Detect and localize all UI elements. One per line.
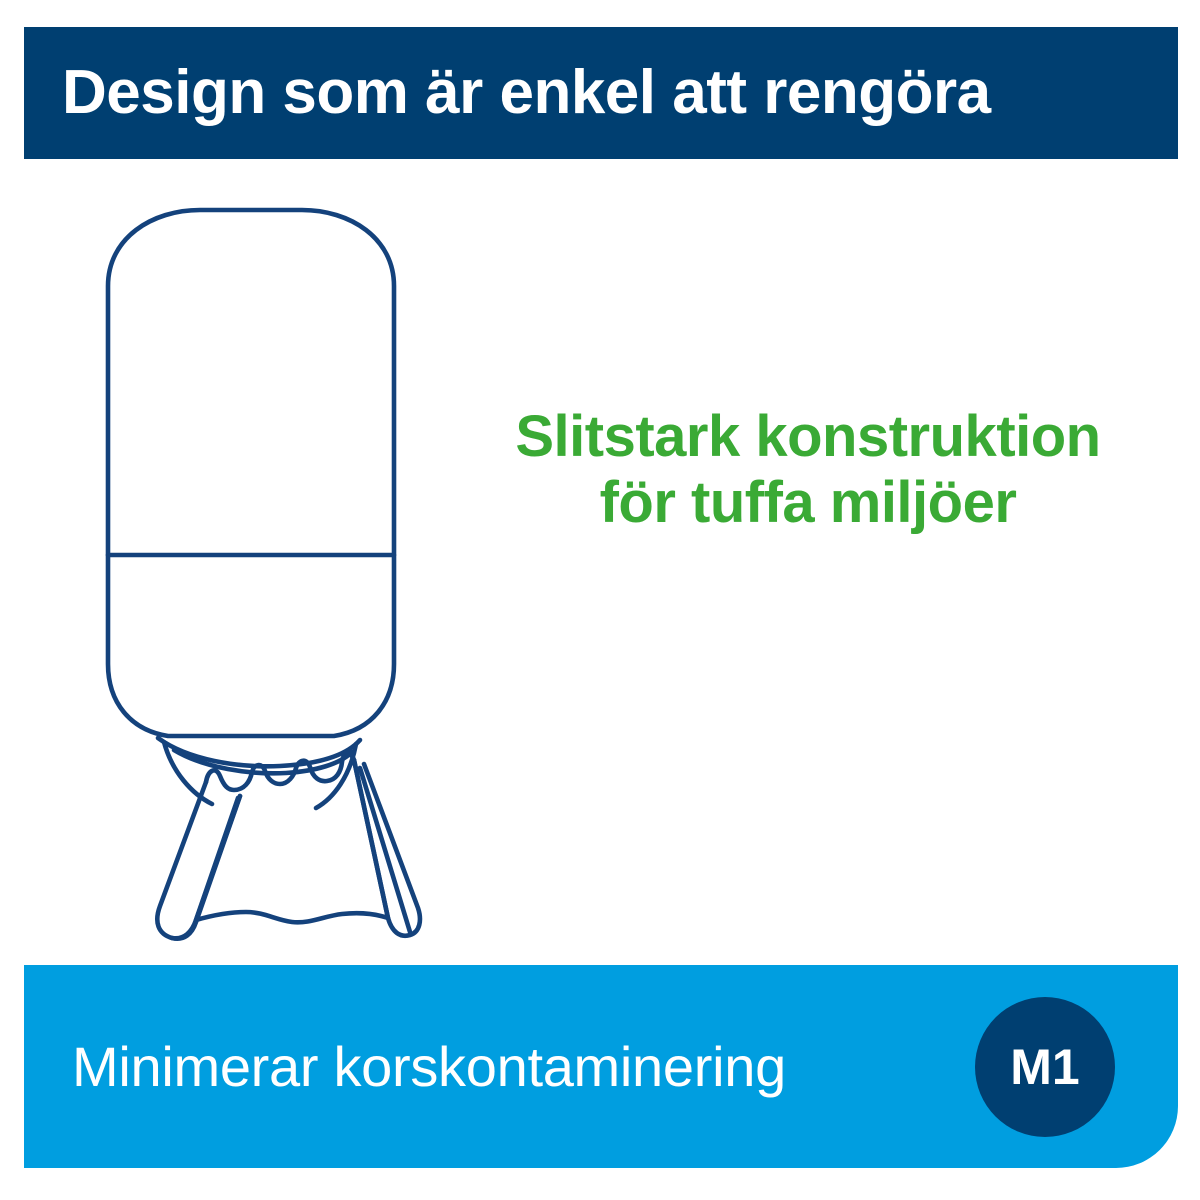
status-badge-label: M1 xyxy=(1010,1042,1079,1092)
status-badge: M1 xyxy=(975,997,1115,1137)
footer-label: Minimerar korskontaminering xyxy=(72,965,786,1168)
feature-headline-line-2: för tuffa miljöer xyxy=(452,470,1164,536)
feature-headline: Slitstark konstruktion för tuffa miljöer xyxy=(452,404,1164,536)
header-banner: Design som är enkel att rengöra xyxy=(24,27,1178,159)
nozzle-top-lip xyxy=(158,738,360,766)
dispenser-body-outline xyxy=(108,210,394,736)
feature-headline-line-1: Slitstark konstruktion xyxy=(452,404,1164,470)
centerfeed-dispenser-illustration xyxy=(88,190,448,950)
product-feature-card: Design som är enkel att rengöra xyxy=(0,0,1200,1200)
page-title: Design som är enkel att rengöra xyxy=(24,62,991,124)
